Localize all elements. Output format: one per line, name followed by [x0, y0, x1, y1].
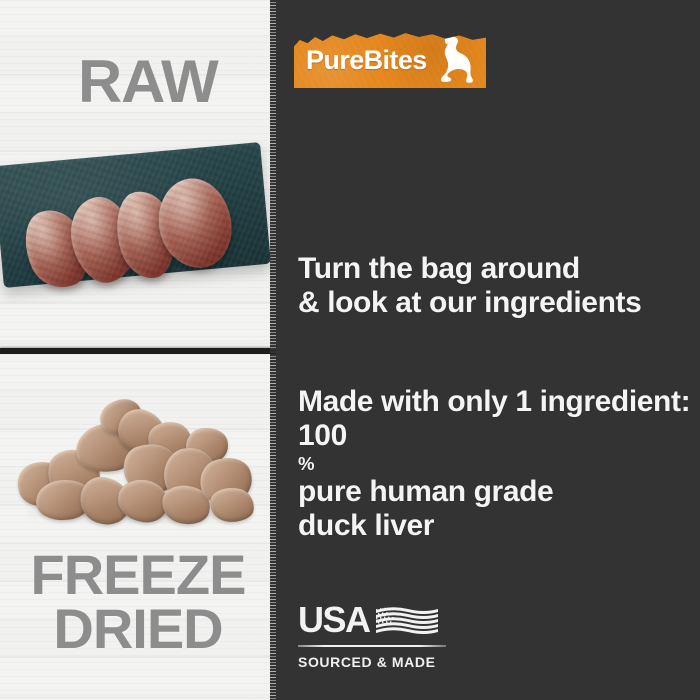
headline-one-ingredient: Made with only 1 ingredient: 100% pure h…	[298, 385, 690, 543]
raw-liver-piece	[63, 190, 144, 289]
percent-symbol: %	[298, 453, 690, 474]
headline-1-line-1: Turn the bag around	[298, 252, 641, 286]
headline-turn-the-bag: Turn the bag around & look at our ingred…	[298, 252, 641, 320]
left-photo-column: RAW	[0, 0, 276, 700]
headline-2-line-2-suffix: pure human grade	[298, 475, 690, 509]
usa-subtitle: SOURCED & MADE	[298, 654, 488, 670]
raw-liver-piece	[110, 186, 182, 283]
sitting-dog-icon	[432, 34, 476, 84]
raw-photo-panel: RAW	[0, 0, 276, 352]
freeze-dried-label-line-1: FREEZE	[0, 548, 276, 602]
purebites-product-poster: RAW	[0, 0, 700, 700]
usa-flag-icon	[374, 606, 440, 638]
headline-2-line-3: duck liver	[298, 509, 690, 543]
raw-liver-photo	[0, 140, 276, 340]
slate-board	[0, 142, 271, 288]
freeze-dried-label-line-2: DRIED	[0, 602, 276, 656]
usa-title: USA	[298, 602, 370, 638]
raw-label: RAW	[78, 52, 218, 112]
percent-value: 100	[298, 419, 690, 453]
raw-liver-piece	[152, 173, 237, 273]
freeze-dried-liver-photo	[14, 392, 264, 532]
freeze-dried-label: FREEZE DRIED	[0, 548, 276, 656]
headline-1-line-2: & look at our ingredients	[298, 286, 641, 320]
right-content-column: PureBites Turn the bag around & look at …	[276, 0, 700, 700]
usa-title-row: USA	[298, 604, 488, 642]
headline-2-line-1: Made with only 1 ingredient:	[298, 385, 690, 419]
purebites-wordmark: PureBites	[306, 47, 427, 74]
usa-divider-rule	[298, 645, 446, 647]
raw-liver-piece	[14, 201, 97, 297]
usa-sourced-made-badge: USA	[298, 604, 488, 670]
purebites-logo[interactable]: PureBites	[294, 32, 486, 88]
headline-2-line-2: 100% pure human grade	[298, 419, 690, 509]
